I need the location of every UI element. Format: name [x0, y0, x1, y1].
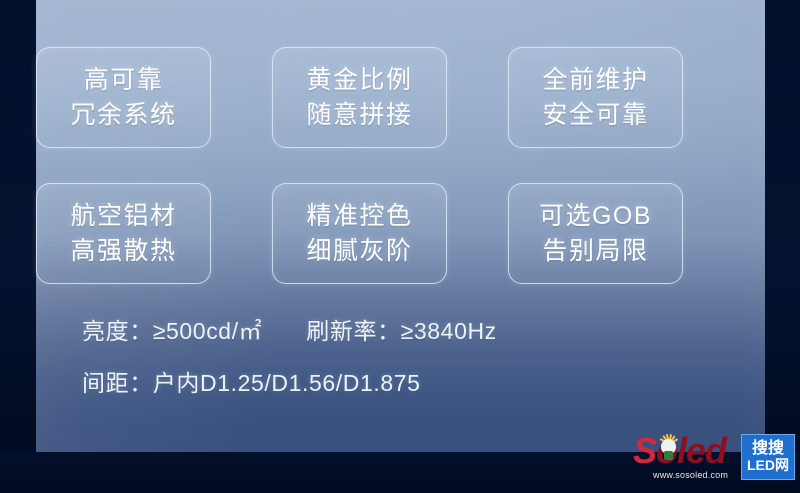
feature-card-4[interactable]: 航空铝材 高强散热: [36, 183, 211, 284]
feature-card-grid: 高可靠 冗余系统 黄金比例 随意拼接 全前维护 安全可靠 航空铝材 高强散热 精…: [36, 47, 696, 284]
watermark-brand-initial: S: [633, 430, 656, 471]
frame-left-border: [0, 0, 36, 493]
bulb-base-icon: [664, 451, 673, 460]
feature-card-3-line-1: 全前维护: [542, 65, 648, 96]
feature-card-5-line-2: 细腻灰阶: [306, 236, 412, 267]
spec-row-1: 亮度：≥500cd/㎡ 刷新率：≥3840Hz: [82, 312, 682, 346]
feature-card-6[interactable]: 可选GOB 告别局限: [508, 183, 683, 284]
watermark-badge-cn: 搜搜: [752, 441, 784, 458]
feature-card-1-line-2: 冗余系统: [70, 100, 176, 131]
watermark-badge-en: LED网: [747, 458, 789, 473]
screenshot-root: 高可靠 冗余系统 黄金比例 随意拼接 全前维护 安全可靠 航空铝材 高强散热 精…: [0, 0, 800, 493]
feature-card-5-line-1: 精准控色: [306, 201, 412, 232]
spec-pixel-pitch: 间距：户内D1.25/D1.56/D1.875: [82, 364, 421, 398]
watermark-brand-text: Soled: [633, 433, 726, 469]
watermark: Soled www.sosoled.com 搜搜 LED网: [633, 430, 795, 484]
spec-refresh-rate: 刷新率：≥3840Hz: [306, 312, 497, 346]
feature-card-2-line-2: 随意拼接: [306, 100, 412, 131]
feature-card-3[interactable]: 全前维护 安全可靠: [508, 47, 683, 148]
spec-brightness: 亮度：≥500cd/㎡: [82, 312, 262, 346]
feature-card-3-line-2: 安全可靠: [542, 100, 648, 131]
feature-card-6-line-1: 可选GOB: [539, 201, 652, 232]
spec-row-2: 间距：户内D1.25/D1.56/D1.875: [82, 364, 682, 398]
feature-card-6-line-2: 告别局限: [542, 236, 648, 267]
feature-card-1[interactable]: 高可靠 冗余系统: [36, 47, 211, 148]
watermark-badge: 搜搜 LED网: [741, 434, 795, 480]
feature-card-2[interactable]: 黄金比例 随意拼接: [272, 47, 447, 148]
lightbulb-icon: [659, 439, 678, 462]
feature-card-4-line-1: 航空铝材: [70, 201, 176, 232]
feature-card-5[interactable]: 精准控色 细腻灰阶: [272, 183, 447, 284]
watermark-url: www.sosoled.com: [653, 470, 728, 480]
frame-right-border: [765, 0, 800, 493]
feature-card-1-line-1: 高可靠: [84, 65, 164, 96]
feature-card-2-line-1: 黄金比例: [306, 65, 412, 96]
feature-card-4-line-2: 高强散热: [70, 236, 176, 267]
watermark-logo: Soled www.sosoled.com: [633, 432, 739, 482]
spec-list: 亮度：≥500cd/㎡ 刷新率：≥3840Hz 间距：户内D1.25/D1.56…: [82, 312, 682, 416]
